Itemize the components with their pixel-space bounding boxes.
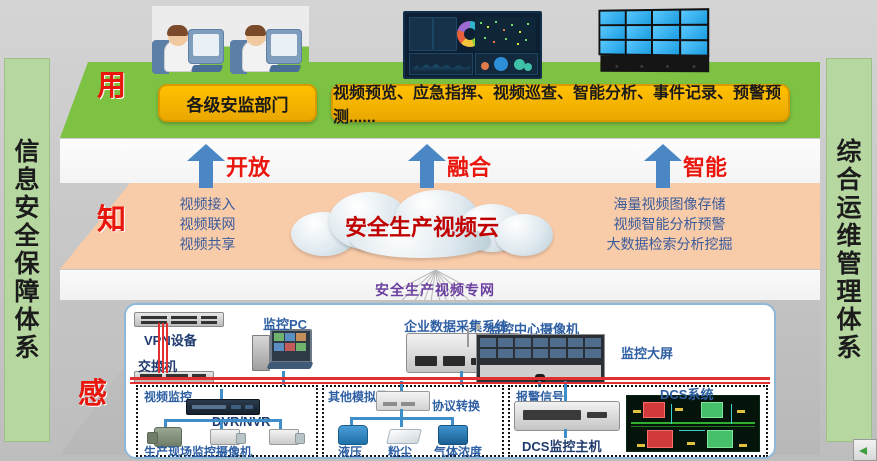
analytics-dashboard-image (403, 11, 542, 79)
sidebar-right-char: 管 (836, 251, 861, 277)
sidebar-left-char: 安 (14, 195, 39, 221)
sidebar-right-char: 体 (836, 307, 861, 333)
sensor-label-dust: 粉尘 (388, 443, 412, 459)
sidebar-right-char: 维 (836, 223, 861, 249)
device-label-vpn: VPN设备 (144, 330, 197, 349)
sidebar-information-security: 信 息 安 全 保 障 体 系 (4, 58, 50, 442)
control-center-camera-icon (467, 329, 469, 347)
cloud-shape-icon: 安全生产视频云 (291, 190, 553, 258)
dcs-host-icon (514, 401, 620, 431)
dcs-system-image (626, 395, 760, 452)
functions-box[interactable]: 视频预览、应急指挥、视频巡查、智能分析、事件记录、预警预测...... (331, 84, 790, 122)
sensor-label-gas: 气体浓度 (434, 443, 482, 459)
arrow-label-intelligent: 智能 (683, 150, 727, 182)
private-network-label: 安全生产视频专网 (300, 280, 570, 300)
cloud-right-item: 大数据检索分析挖掘 (557, 235, 782, 255)
sidebar-left-char: 系 (14, 335, 39, 361)
stage-label-use: 用 (97, 62, 126, 104)
cloud-left-item: 视频联网 (130, 215, 285, 235)
group-label-video-monitoring: 视频监控 (144, 388, 192, 405)
sidebar-left-char: 保 (14, 251, 39, 277)
group-caption-site-cameras: 生产现场监控摄像机 (144, 443, 252, 459)
device-label-dcs-host: DCS监控主机 (522, 436, 601, 455)
cloud-right-item: 视频智能分析预警 (557, 215, 782, 235)
sidebar-right-char: 理 (836, 279, 861, 305)
dust-sensor-icon (386, 429, 422, 444)
sidebar-right-char: 综 (836, 139, 861, 165)
dvr-nvr-icon (186, 399, 260, 415)
sidebar-right-char: 系 (836, 335, 861, 361)
control-room-image (476, 334, 605, 383)
cloud-left-item: 视频接入 (130, 195, 285, 215)
monitoring-pc-icon (252, 327, 314, 371)
sidebar-right-char: 运 (836, 195, 861, 221)
sensor-label-hydraulic: 液压 (338, 443, 362, 459)
alarm-bus-line-secondary (130, 382, 770, 384)
operator-figure (230, 16, 302, 74)
cloud-right-item: 海量视频图像存储 (557, 195, 782, 215)
sidebar-right-char: 合 (836, 167, 861, 193)
arrow-intelligent-icon (644, 144, 682, 188)
operator-workstations-image (152, 6, 309, 76)
field-devices-panel: VPN设备 交换机 监控PC 企业数据采集系 (124, 303, 776, 459)
sidebar-left-char: 息 (14, 167, 39, 193)
sidebar-left-char: 障 (14, 279, 39, 305)
scroll-corner-icon (853, 439, 877, 461)
alarm-bus-line (130, 377, 770, 380)
sidebar-left-char: 全 (14, 223, 39, 249)
device-label-monitoring-pc: 监控PC (263, 314, 307, 333)
cloud-left-capabilities: 视频接入 视频联网 视频共享 (130, 195, 285, 255)
arrow-converge-icon (408, 144, 446, 188)
diagram-canvas: 信 息 安 全 保 障 体 系 综 合 运 维 管 理 体 系 用 知 感 各级… (0, 0, 877, 461)
arrow-label-converge: 融合 (447, 150, 491, 182)
arrow-open-icon (187, 144, 225, 188)
stage-label-sense: 感 (78, 370, 107, 412)
protocol-converter-icon (376, 391, 430, 411)
sidebar-left-char: 信 (14, 139, 39, 165)
stage-label-know: 知 (97, 196, 126, 238)
cloud-right-capabilities: 海量视频图像存储 视频智能分析预警 大数据检索分析挖掘 (557, 195, 782, 255)
device-label-protocol-converter: 协议转换 (432, 397, 480, 414)
department-box[interactable]: 各级安监部门 (158, 84, 317, 122)
sidebar-operations-management: 综 合 运 维 管 理 体 系 (826, 58, 872, 442)
hydraulic-sensor-icon (338, 425, 368, 445)
video-wall-image (596, 9, 718, 73)
arrow-label-open: 开放 (226, 150, 270, 182)
device-label-dcs-system: DCS系统 (660, 384, 713, 403)
gas-sensor-icon (438, 425, 468, 445)
vpn-device-icon (134, 312, 224, 327)
operator-figure (152, 16, 224, 74)
device-label-video-wall: 监控大屏 (621, 343, 673, 362)
cloud-title: 安全生产视频云 (291, 210, 553, 242)
sidebar-left-char: 体 (14, 307, 39, 333)
box-camera-icon (269, 429, 299, 445)
cloud-left-item: 视频共享 (130, 235, 285, 255)
